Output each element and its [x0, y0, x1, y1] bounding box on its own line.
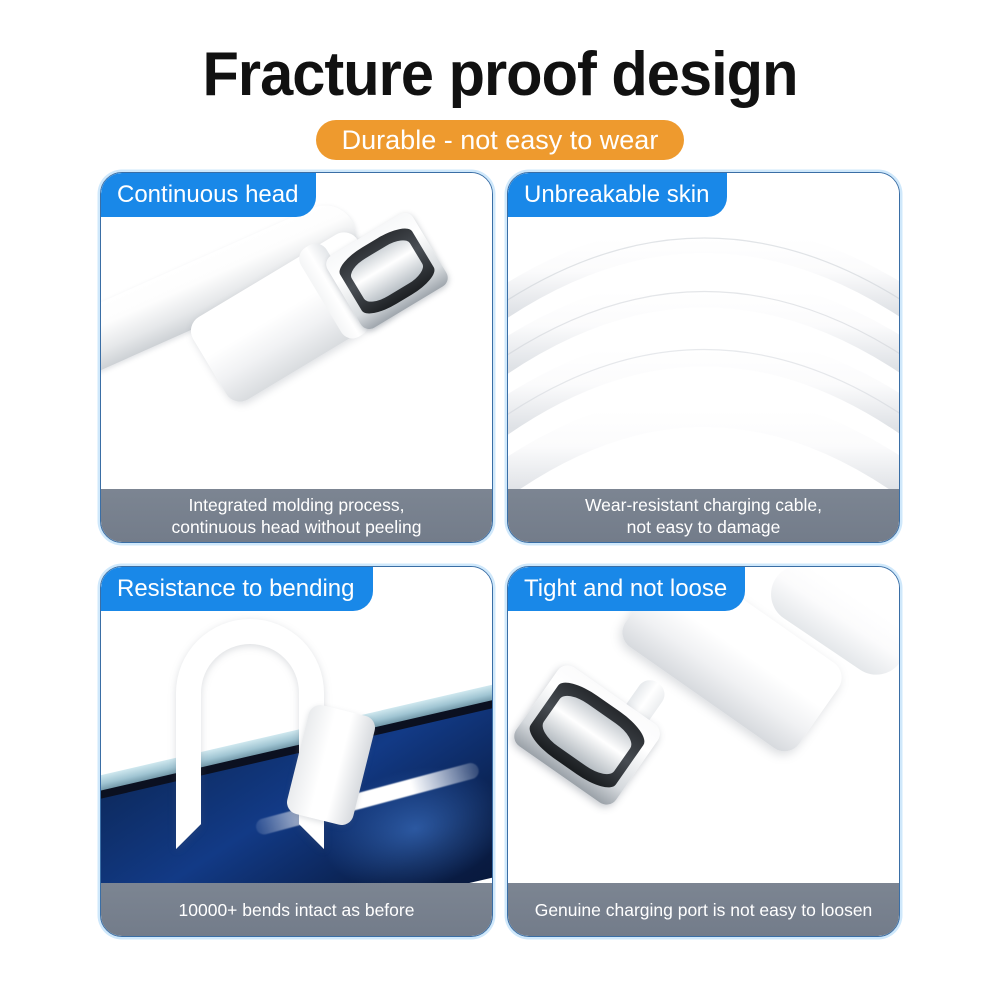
feature-card-resistance-to-bending: Resistance to bending 10000+ bends intac…	[100, 566, 493, 937]
caption-line-1: Wear-resistant charging cable,	[585, 494, 822, 516]
page-title: Fracture proof design	[20, 0, 980, 110]
card-label: Resistance to bending	[101, 567, 373, 611]
card-label: Tight and not loose	[508, 567, 745, 611]
caption-line-1: Genuine charging port is not easy to loo…	[535, 899, 873, 921]
feature-card-unbreakable-skin: Unbreakable skin	[507, 172, 900, 543]
feature-card-grid: Continuous head Integrated molding proce…	[100, 172, 900, 937]
feature-card-tight-and-not-loose: Tight and not loose Genuine charging por…	[507, 566, 900, 937]
card-caption: Integrated molding process, continuous h…	[101, 489, 492, 542]
coiled-cable-svg	[508, 173, 899, 489]
card-label: Unbreakable skin	[508, 173, 727, 217]
caption-line-2: continuous head without peeling	[171, 516, 421, 538]
card-caption: Genuine charging port is not easy to loo…	[508, 883, 899, 936]
caption-line-1: Integrated molding process,	[171, 494, 421, 516]
card-image-usb-c-connector	[101, 173, 492, 489]
card-label: Continuous head	[101, 173, 316, 217]
card-image-bent-cable-phone	[101, 567, 492, 883]
header: Fracture proof design Durable - not easy…	[0, 0, 1000, 160]
cable-arc-group	[508, 173, 899, 489]
subtitle-badge: Durable - not easy to wear	[316, 120, 685, 160]
caption-line-1: 10000+ bends intact as before	[179, 899, 415, 921]
card-caption: 10000+ bends intact as before	[101, 883, 492, 936]
card-image-coiled-cable	[508, 173, 899, 489]
caption-line-2: not easy to damage	[585, 516, 822, 538]
subtitle-container: Durable - not easy to wear	[0, 120, 1000, 160]
card-image-usb-c-plug	[508, 567, 899, 883]
feature-card-continuous-head: Continuous head Integrated molding proce…	[100, 172, 493, 543]
card-caption: Wear-resistant charging cable, not easy …	[508, 489, 899, 542]
